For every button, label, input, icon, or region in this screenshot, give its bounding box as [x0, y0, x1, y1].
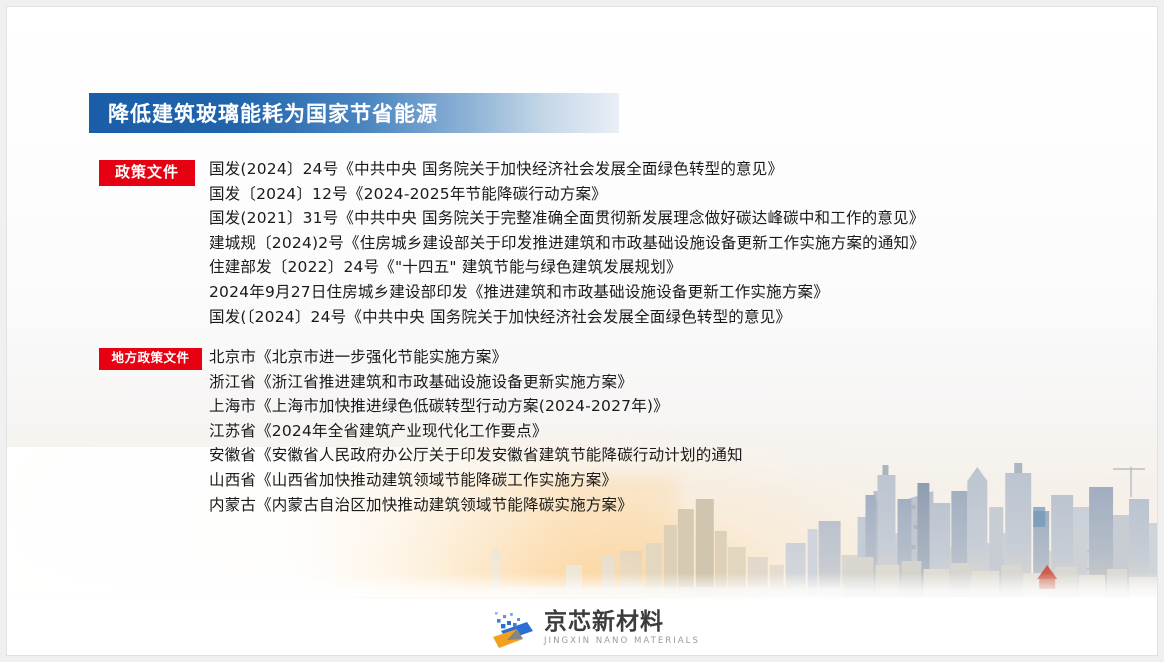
list-item: 住建部发〔2022〕24号《"十四五" 建筑节能与绿色建筑发展规划》 — [209, 255, 1137, 280]
list-item: 上海市《上海市加快推进绿色低碳转型行动方案(2024-2027年)》 — [209, 394, 1137, 419]
list-item: 2024年9月27日住房城乡建设部印发《推进建筑和市政基础设施设备更新工作实施方… — [209, 280, 1137, 305]
jingxin-logo-icon — [487, 609, 535, 649]
local-policy-list: 北京市《北京市进一步强化节能实施方案》 浙江省《浙江省推进建筑和市政基础设施设备… — [209, 345, 1137, 517]
list-item: 山西省《山西省加快推动建筑领域节能降碳工作实施方案》 — [209, 468, 1137, 493]
badge-national-policy: 政策文件 — [99, 160, 195, 186]
list-item: 浙江省《浙江省推进建筑和市政基础设施设备更新实施方案》 — [209, 370, 1137, 395]
badge-local-policy: 地方政策文件 — [99, 348, 202, 370]
list-item: 北京市《北京市进一步强化节能实施方案》 — [209, 345, 1137, 370]
list-item: 国发(〔2024〕24号《中共中央 国务院关于加快经济社会发展全面绿色转型的意见… — [209, 305, 1137, 330]
list-item: 国发(2021〕31号《中共中央 国务院关于完整准确全面贯彻新发展理念做好碳达峰… — [209, 206, 1137, 231]
company-logo: 京芯新材料 JINGXIN NANO MATERIALS — [487, 609, 700, 649]
national-policy-list: 国发(2024〕24号《中共中央 国务院关于加快经济社会发展全面绿色转型的意见》… — [209, 157, 1137, 329]
logo-text: 京芯新材料 JINGXIN NANO MATERIALS — [544, 610, 700, 647]
list-item: 国发〔2024〕12号《2024-2025年节能降碳行动方案》 — [209, 182, 1137, 207]
list-item: 安徽省《安徽省人民政府办公厅关于印发安徽省建筑节能降碳行动计划的通知 — [209, 443, 1137, 468]
company-name-en: JINGXIN NANO MATERIALS — [544, 636, 700, 647]
presentation-slide: 降低建筑玻璃能耗为国家节省能源 政策文件 国发(2024〕24号《中共中央 国务… — [6, 6, 1158, 656]
page-title: 降低建筑玻璃能耗为国家节省能源 — [89, 98, 438, 128]
list-item: 内蒙古《内蒙古自治区加快推动建筑领域节能降碳实施方案》 — [209, 493, 1137, 518]
list-item: 江苏省《2024年全省建筑产业现代化工作要点》 — [209, 419, 1137, 444]
list-item: 建城规〔2024)2号《住房城乡建设部关于印发推进建筑和市政基础设施设备更新工作… — [209, 231, 1137, 256]
company-name-cn: 京芯新材料 — [544, 610, 700, 634]
slide-title-bar: 降低建筑玻璃能耗为国家节省能源 — [89, 93, 619, 133]
list-item: 国发(2024〕24号《中共中央 国务院关于加快经济社会发展全面绿色转型的意见》 — [209, 157, 1137, 182]
